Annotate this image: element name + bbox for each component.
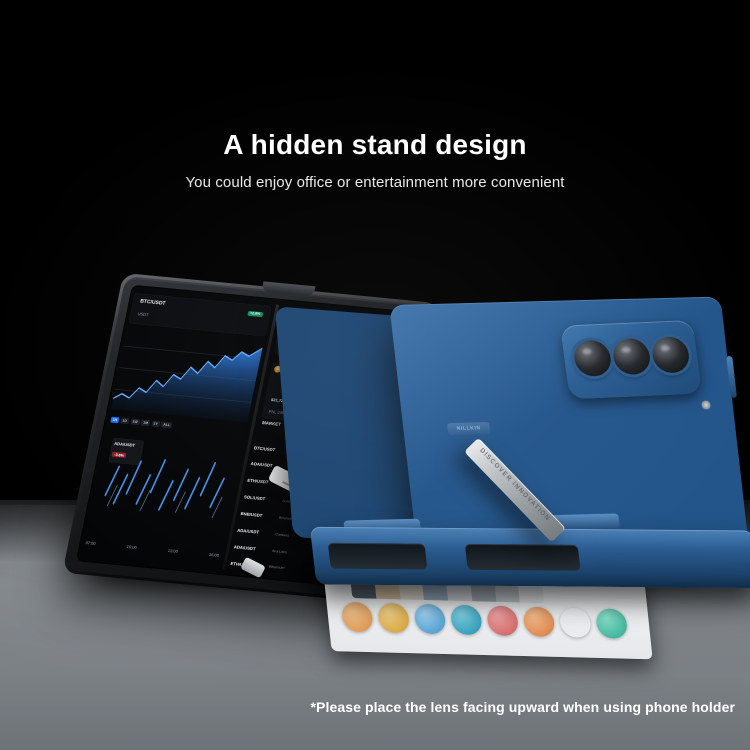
timeframe-chip-1[interactable]: 1D <box>120 417 130 424</box>
app-label <box>453 636 483 637</box>
app-icon[interactable] <box>522 606 555 637</box>
product-marketing-banner: BTC/USDT USDT +2.8% <box>0 0 750 750</box>
right-device-hinge-bar <box>310 527 750 588</box>
timeframe-chip-4[interactable]: 1Y <box>151 420 160 427</box>
app-label <box>562 639 592 640</box>
app-icon[interactable] <box>413 604 446 635</box>
app-icon[interactable] <box>559 607 592 638</box>
app-label <box>598 640 628 641</box>
timeframe-chip-2[interactable]: 1W <box>130 418 140 425</box>
right-device: NILLKIN <box>389 296 748 553</box>
timeframe-chip-row[interactable]: 1H 1D 1W 1M 1Y ALL <box>110 416 172 428</box>
timeframe-chip-3[interactable]: 1M <box>141 419 151 426</box>
timeframe-chip-0[interactable]: 1H <box>110 416 120 423</box>
ticker-symbol: BTC/USDT <box>139 299 166 308</box>
axis-label-2: 13:00 <box>167 548 178 554</box>
candlestick-chart[interactable] <box>90 440 241 525</box>
ticker-quote-label: USDT <box>137 312 149 318</box>
app-icon[interactable] <box>341 602 374 633</box>
brand-logo: NILLKIN <box>447 422 491 435</box>
hinge-slot <box>328 543 428 570</box>
app-label <box>526 638 556 639</box>
camera-lens-icon <box>611 338 652 375</box>
watchlist-header: MARKET <box>262 420 282 427</box>
app-icon[interactable] <box>595 608 628 639</box>
axis-label-0: 07:00 <box>85 540 96 546</box>
app-icon[interactable] <box>377 603 410 634</box>
app-icon-grid[interactable] <box>341 602 639 639</box>
axis-label-3: 16:00 <box>209 552 220 558</box>
app-label <box>417 635 447 636</box>
timeframe-chip-5[interactable]: ALL <box>161 421 173 428</box>
disclaimer-note: *Please place the lens facing upward whe… <box>0 699 735 715</box>
right-device-camera-module <box>560 320 702 399</box>
page-title: A hidden stand design <box>0 129 750 161</box>
camera-flash-icon <box>701 400 711 409</box>
camera-lens-icon <box>572 340 613 377</box>
app-icon[interactable] <box>450 605 483 636</box>
price-area-chart[interactable] <box>111 327 264 423</box>
app-icon[interactable] <box>486 606 519 637</box>
row-name: Ethereum <box>268 565 314 573</box>
app-label <box>489 637 519 638</box>
page-subtitle: You could enjoy office or entertainment … <box>0 174 750 191</box>
app-label <box>380 635 410 636</box>
axis-label-1: 10:00 <box>126 544 137 550</box>
hinge-slot <box>465 544 581 571</box>
app-label <box>344 634 374 635</box>
camera-lens-icon <box>650 336 691 373</box>
time-axis-row: 07:00 10:00 13:00 16:00 <box>85 540 219 558</box>
ticker-change-badge: +2.8% <box>247 310 263 316</box>
